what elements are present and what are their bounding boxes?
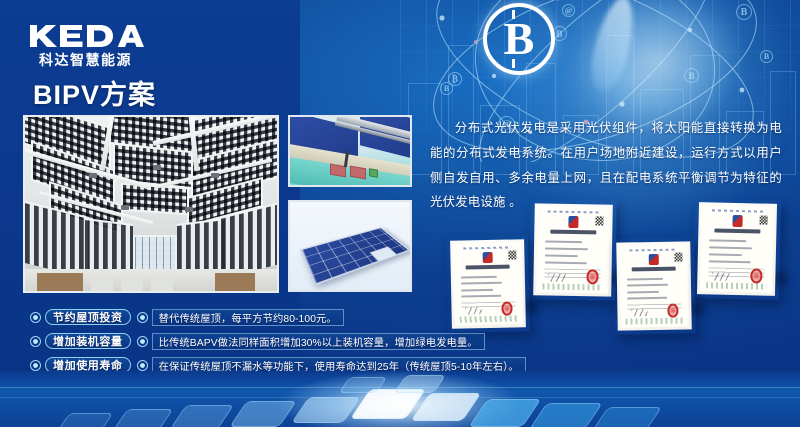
bottom-decorative-band [0,371,800,427]
mounting-detail-diagram [288,115,412,187]
mini-bitcoin-icon-5: B [736,4,752,20]
certificate-3 [612,237,696,334]
benefit-label-2: 增加装机容量 [45,333,131,349]
brand-logo: 科达智慧能源 [28,24,158,70]
bullet-dot-icon [30,312,41,323]
benefit-desc-1: 替代传统屋顶，每平方节约80-100元。 [152,309,344,326]
mini-bitcoin-icon-4: B [684,68,699,83]
atrium-scene [25,117,277,291]
page-title: BIPV方案 [33,73,156,112]
module-diagram [288,200,412,292]
atrium-photo [23,115,279,293]
certificate-2 [529,199,617,300]
mini-bitcoin-icon-7: B [440,82,453,95]
bullet-dot-icon [30,360,41,371]
bullet-dot-icon [30,336,41,347]
bullet-dot-icon [137,336,148,347]
mini-bitcoin-icon-6: B [760,50,773,63]
mini-bitcoin-icon-8: @ [562,4,575,17]
clamp-green [369,168,378,178]
certificate-4 [693,198,781,300]
poster-canvas: B @ ₿ B B B B @ B 科达智慧能源 BIPV方案 [0,0,800,427]
benefit-desc-2: 比传统BAPV做法同样面积增加30%以上装机容量，增加绿电发电量。 [152,333,485,350]
benefits-list: 节约屋顶投资 替代传统屋顶，每平方节约80-100元。 增加装机容量 比传统BA… [30,306,430,378]
benefit-row-1: 节约屋顶投资 替代传统屋顶，每平方节约80-100元。 [30,306,430,328]
benefit-row-2: 增加装机容量 比传统BAPV做法同样面积增加30%以上装机容量，增加绿电发电量。 [30,330,430,352]
brand-name-cn: 科达智慧能源 [28,50,143,70]
certificate-1 [446,235,530,333]
benefit-label-1: 节约屋顶投资 [45,309,131,325]
bullet-dot-icon [137,312,148,323]
bitcoin-symbol: B [504,16,535,62]
bullet-dot-icon [137,360,148,371]
bitcoin-logo-icon: B [483,3,555,75]
keda-wordmark-icon [28,24,158,48]
